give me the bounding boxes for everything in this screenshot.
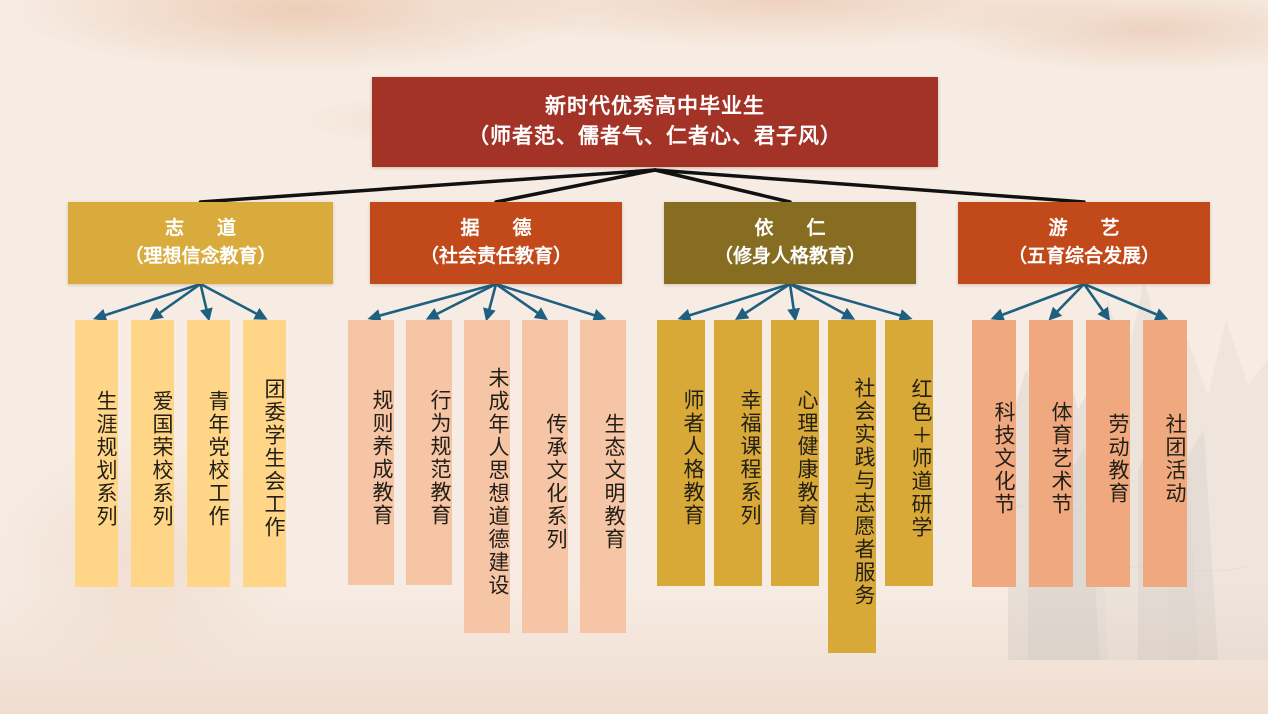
item-box-jude-0[interactable]: 规则养成教育 [348, 320, 394, 585]
arrow-connector-jude-2 [487, 284, 496, 318]
category-subtitle: （五育综合发展） [1008, 243, 1160, 271]
item-box-youyi-1[interactable]: 体育艺术节 [1029, 320, 1073, 587]
item-box-jude-3[interactable]: 传承文化系列 [522, 320, 568, 633]
arrow-connector-zhidao-0 [97, 284, 201, 318]
item-label: 生涯规划系列 [93, 390, 118, 528]
arrow-connector-zhidao-1 [153, 284, 201, 318]
trunk-connector-jude [496, 170, 655, 202]
category-name: 志 道 [158, 215, 243, 243]
category-box-yiren[interactable]: 依 仁（修身人格教育） [664, 202, 916, 284]
item-label: 科技文化节 [991, 401, 1016, 516]
arrow-connector-zhidao-2 [201, 284, 209, 318]
arrow-connector-yiren-2 [790, 284, 795, 318]
item-label: 体育艺术节 [1048, 401, 1073, 516]
arrow-connector-group [97, 284, 1166, 318]
item-label: 青年党校工作 [205, 390, 230, 528]
background-wash-bottom [0, 584, 1268, 714]
item-box-youyi-3[interactable]: 社团活动 [1143, 320, 1187, 587]
item-label: 社团活动 [1162, 413, 1187, 505]
category-subtitle: （修身人格教育） [714, 243, 866, 271]
item-label: 未成年人思想道德建设 [485, 367, 510, 597]
item-label: 团委学生会工作 [261, 378, 286, 539]
arrow-connector-zhidao-3 [201, 284, 265, 318]
arrow-connector-yiren-3 [790, 284, 852, 318]
item-box-zhidao-0[interactable]: 生涯规划系列 [75, 320, 118, 587]
item-label: 行为规范教育 [427, 389, 452, 527]
item-label: 社会实践与志愿者服务 [851, 377, 876, 607]
arrow-connector-jude-3 [496, 284, 545, 318]
item-box-zhidao-2[interactable]: 青年党校工作 [187, 320, 230, 587]
arrow-connector-youyi-3 [1084, 284, 1165, 318]
arrow-connector-jude-4 [496, 284, 603, 318]
root-title-line2: （师者范、儒者气、仁者心、君子风） [468, 122, 842, 152]
item-box-yiren-0[interactable]: 师者人格教育 [657, 320, 705, 586]
category-name: 依 仁 [747, 215, 832, 243]
item-box-zhidao-1[interactable]: 爱国荣校系列 [131, 320, 174, 587]
root-title-box: 新时代优秀高中毕业生 （师者范、儒者气、仁者心、君子风） [372, 77, 938, 167]
arrow-connector-youyi-1 [1051, 284, 1084, 318]
item-label: 劳动教育 [1105, 413, 1130, 505]
item-label: 幸福课程系列 [737, 389, 762, 527]
arrow-connector-jude-1 [429, 284, 496, 318]
arrow-connector-yiren-0 [681, 284, 790, 318]
category-name: 据 德 [453, 215, 538, 243]
item-box-yiren-3[interactable]: 社会实践与志愿者服务 [828, 320, 876, 653]
category-box-zhidao[interactable]: 志 道（理想信念教育） [68, 202, 333, 284]
item-box-youyi-2[interactable]: 劳动教育 [1086, 320, 1130, 587]
diagram-canvas: 新时代优秀高中毕业生 （师者范、儒者气、仁者心、君子风） 志 道（理想信念教育）… [0, 0, 1268, 714]
item-label: 传承文化系列 [543, 413, 568, 551]
arrow-connector-yiren-4 [790, 284, 909, 318]
item-label: 心理健康教育 [794, 389, 819, 527]
category-box-jude[interactable]: 据 德（社会责任教育） [370, 202, 622, 284]
arrow-connector-youyi-2 [1084, 284, 1108, 318]
category-box-youyi[interactable]: 游 艺（五育综合发展） [958, 202, 1210, 284]
item-label: 生态文明教育 [601, 413, 626, 551]
item-label: 红色＋师道研学 [908, 378, 933, 539]
item-label: 爱国荣校系列 [149, 390, 174, 528]
arrow-connector-yiren-1 [738, 284, 790, 318]
item-box-jude-1[interactable]: 行为规范教育 [406, 320, 452, 585]
arrow-connector-youyi-0 [994, 284, 1084, 318]
item-box-youyi-0[interactable]: 科技文化节 [972, 320, 1016, 587]
category-subtitle: （社会责任教育） [420, 243, 572, 271]
category-subtitle: （理想信念教育） [124, 243, 276, 271]
trunk-connector-zhidao [201, 170, 656, 202]
item-label: 规则养成教育 [369, 389, 394, 527]
item-box-jude-4[interactable]: 生态文明教育 [580, 320, 626, 633]
trunk-connector-yiren [655, 170, 790, 202]
category-name: 游 艺 [1041, 215, 1126, 243]
trunk-connector-youyi [655, 170, 1084, 202]
item-box-yiren-1[interactable]: 幸福课程系列 [714, 320, 762, 586]
trunk-connector-group [201, 170, 1085, 202]
item-box-yiren-2[interactable]: 心理健康教育 [771, 320, 819, 586]
item-box-zhidao-3[interactable]: 团委学生会工作 [243, 320, 286, 587]
arrow-connector-jude-0 [371, 284, 496, 318]
item-label: 师者人格教育 [680, 389, 705, 527]
item-box-yiren-4[interactable]: 红色＋师道研学 [885, 320, 933, 586]
item-box-jude-2[interactable]: 未成年人思想道德建设 [464, 320, 510, 633]
root-title-line1: 新时代优秀高中毕业生 [545, 92, 765, 122]
